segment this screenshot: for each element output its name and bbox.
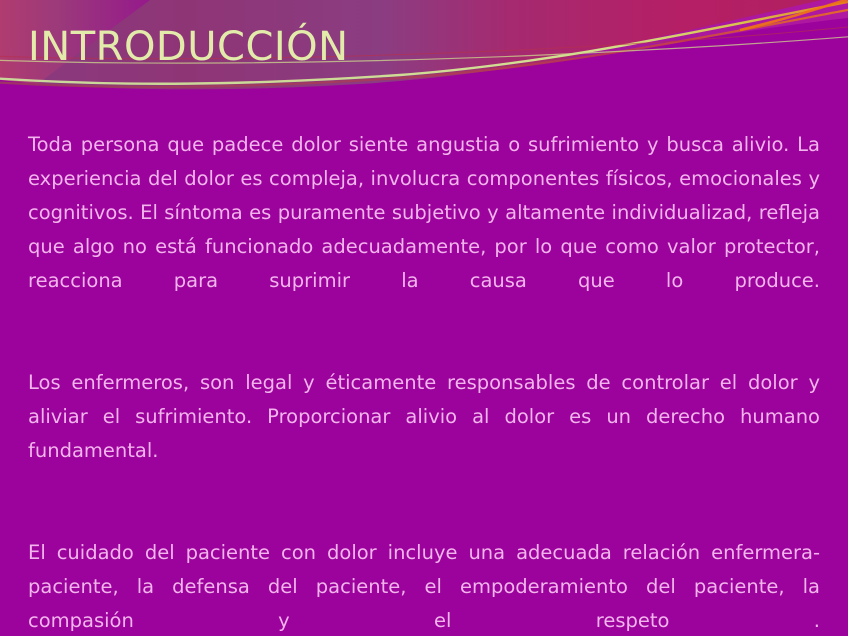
body-paragraph-1: Toda persona que padece dolor siente ang… bbox=[28, 128, 820, 332]
body-paragraph-3: El cuidado del paciente con dolor incluy… bbox=[28, 536, 820, 636]
presentation-slide: INTRODUCCIÓN Toda persona que padece dol… bbox=[0, 0, 848, 636]
banner-orange-streak bbox=[740, 0, 848, 30]
slide-title: INTRODUCCIÓN bbox=[28, 26, 349, 68]
body-paragraph-2: Los enfermeros, son legal y éticamente r… bbox=[28, 366, 820, 502]
banner-purple-wedge bbox=[330, 0, 848, 112]
slide-body: Toda persona que padece dolor siente ang… bbox=[28, 128, 820, 636]
